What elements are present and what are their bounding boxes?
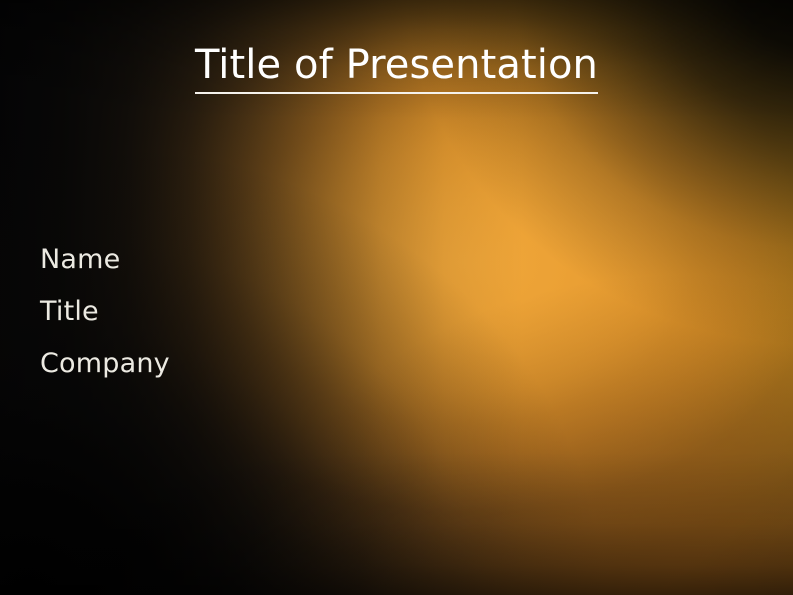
body-placeholder[interactable]: Name Title Company — [40, 246, 660, 377]
presentation-slide: Title of Presentation Name Title Company — [0, 0, 793, 595]
page-title: Title of Presentation — [195, 44, 598, 94]
body-line-name: Name — [40, 246, 660, 273]
body-line-title: Title — [40, 298, 660, 325]
slide-content: Title of Presentation Name Title Company — [0, 0, 793, 595]
body-line-company: Company — [40, 350, 660, 377]
title-placeholder[interactable]: Title of Presentation — [0, 44, 793, 94]
